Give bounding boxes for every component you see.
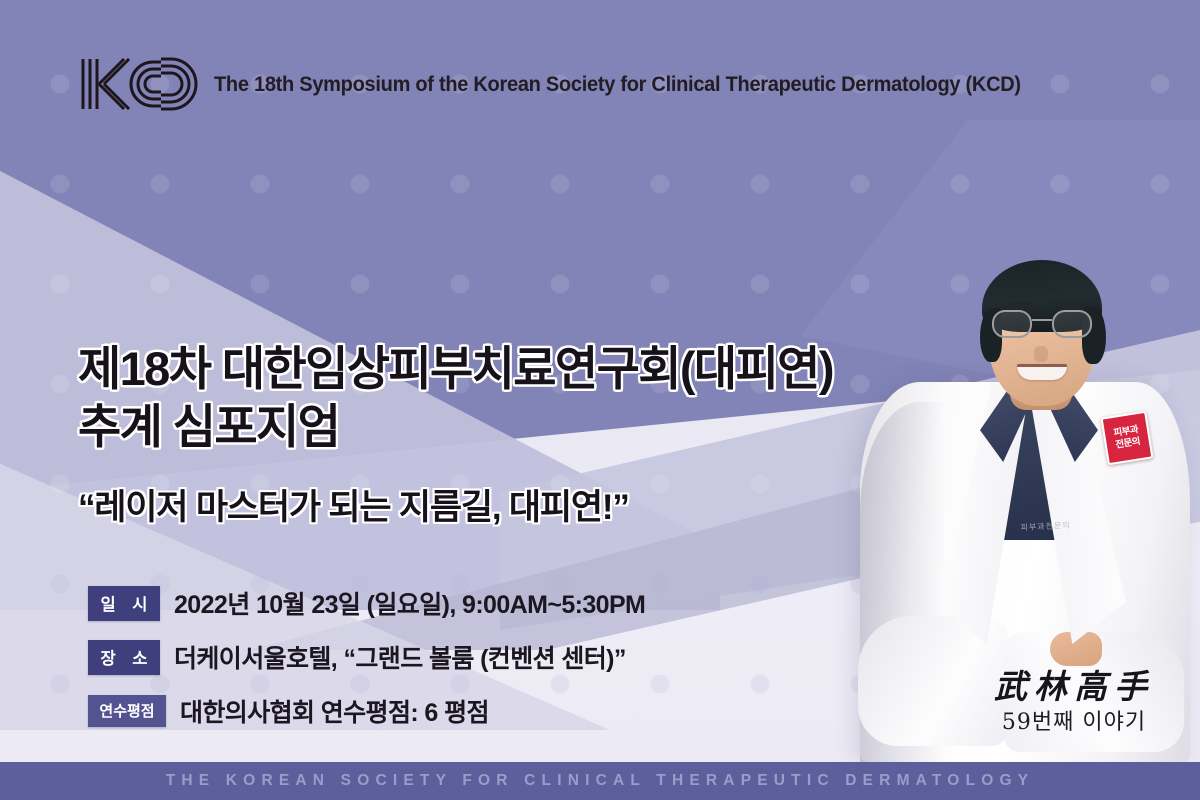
coat-pocket-embroidery: 피부과전문의 [1003, 520, 1088, 546]
glasses-bridge [1032, 319, 1052, 321]
footer-bar: THE KOREAN SOCIETY FOR CLINICAL THERAPEU… [0, 762, 1200, 800]
info-row-date: 일 시 2022년 10월 23일 (일요일), 9:00AM~5:30PM [88, 585, 645, 621]
badge-credits-label: 연수평점 [88, 695, 166, 727]
main-title-line-1: 제18차 대한임상피부치료연구회(대피연) [78, 340, 908, 398]
specialist-badge: 피부과 전문의 [1101, 411, 1154, 466]
badge-date-label: 일 시 [88, 586, 160, 621]
info-list: 일 시 2022년 10월 23일 (일요일), 9:00AM~5:30PM 장… [88, 585, 645, 729]
specialist-badge-line2: 전문의 [1115, 436, 1141, 452]
poster-canvas: The 18th Symposium of the Korean Society… [0, 0, 1200, 800]
lens-left [992, 310, 1032, 338]
info-venue-value: 더케이서울호텔, “그랜드 볼룸 (컨벤션 센터)” [174, 639, 626, 675]
header-title: The 18th Symposium of the Korean Society… [214, 72, 1021, 97]
main-title: 제18차 대한임상피부치료연구회(대피연) 추계 심포지엄 [78, 340, 908, 457]
calligraphy-block: 武林高手 59번째 이야기 [994, 670, 1154, 734]
info-row-credits: 연수평점 대한의사협회 연수평점: 6 평점 [88, 693, 645, 729]
kcd-logo-icon [78, 55, 200, 113]
poster-header: The 18th Symposium of the Korean Society… [0, 0, 1200, 168]
eyeglasses-icon [992, 310, 1092, 340]
info-row-venue: 장 소 더케이서울호텔, “그랜드 볼룸 (컨벤션 센터)” [88, 639, 645, 675]
calligraphy-hanja: 武林高手 [994, 670, 1154, 703]
nose [1034, 346, 1048, 362]
footer-text: THE KOREAN SOCIETY FOR CLINICAL THERAPEU… [166, 772, 1035, 790]
calligraphy-korean: 59번째 이야기 [994, 712, 1154, 734]
title-block: 제18차 대한임상피부치료연구회(대피연) 추계 심포지엄 “레이저 마스터가 … [78, 340, 908, 530]
info-credits-value: 대한의사협회 연수평점: 6 평점 [180, 693, 489, 729]
lens-right [1052, 310, 1092, 338]
main-title-line-2: 추계 심포지엄 [78, 398, 908, 456]
badge-venue-label: 장 소 [88, 640, 160, 675]
info-date-value: 2022년 10월 23일 (일요일), 9:00AM~5:30PM [174, 585, 645, 621]
subtitle-quote: “레이저 마스터가 되는 지름길, 대피연!” [78, 479, 908, 530]
smile [1017, 364, 1067, 380]
